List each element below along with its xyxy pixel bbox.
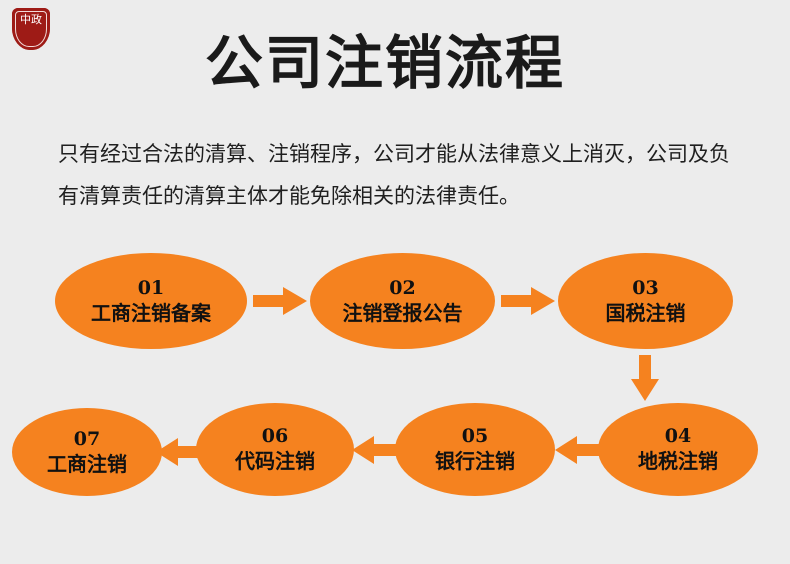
flow-node-03[interactable]: 03 国税注销 — [558, 253, 733, 349]
seal-logo-text: 中政 — [12, 13, 50, 26]
flow-node-01-number: 01 — [138, 277, 164, 300]
flow-node-05-label: 银行注销 — [435, 448, 515, 474]
flow-node-02[interactable]: 02 注销登报公告 — [310, 253, 495, 349]
page-subtitle: 只有经过合法的清算、注销程序，公司才能从法律意义上消灭，公司及负有清算责任的清算… — [58, 133, 748, 217]
flow-node-06-number: 06 — [262, 425, 288, 448]
arrow-04-to-05 — [555, 435, 601, 465]
flow-node-01[interactable]: 01 工商注销备案 — [55, 253, 247, 349]
arrow-05-to-06 — [352, 435, 398, 465]
arrow-01-to-02 — [253, 286, 307, 316]
arrow-03-to-04 — [630, 355, 660, 401]
flow-node-05[interactable]: 05 银行注销 — [395, 403, 555, 496]
page-title: 公司注销流程 — [205, 30, 565, 96]
flow-node-04[interactable]: 04 地税注销 — [598, 403, 758, 496]
flow-node-03-number: 03 — [632, 277, 658, 300]
arrow-06-to-07 — [156, 437, 202, 467]
flow-node-05-number: 05 — [462, 425, 488, 448]
flow-node-02-label: 注销登报公告 — [343, 300, 463, 326]
flow-node-06-label: 代码注销 — [235, 448, 315, 474]
flow-node-01-label: 工商注销备案 — [91, 300, 211, 326]
flow-node-02-number: 02 — [389, 277, 415, 300]
flow-node-03-label: 国税注销 — [606, 300, 686, 326]
seal-logo: 中政 — [8, 6, 54, 58]
flow-node-07-label: 工商注销 — [47, 451, 127, 477]
flow-node-07[interactable]: 07 工商注销 — [12, 408, 162, 496]
flow-node-06[interactable]: 06 代码注销 — [196, 403, 354, 496]
flow-node-04-label: 地税注销 — [638, 448, 718, 474]
flow-node-04-number: 04 — [665, 425, 691, 448]
seal-shape: 中政 — [12, 8, 50, 50]
flow-node-07-number: 07 — [74, 428, 100, 451]
arrow-02-to-03 — [501, 286, 555, 316]
